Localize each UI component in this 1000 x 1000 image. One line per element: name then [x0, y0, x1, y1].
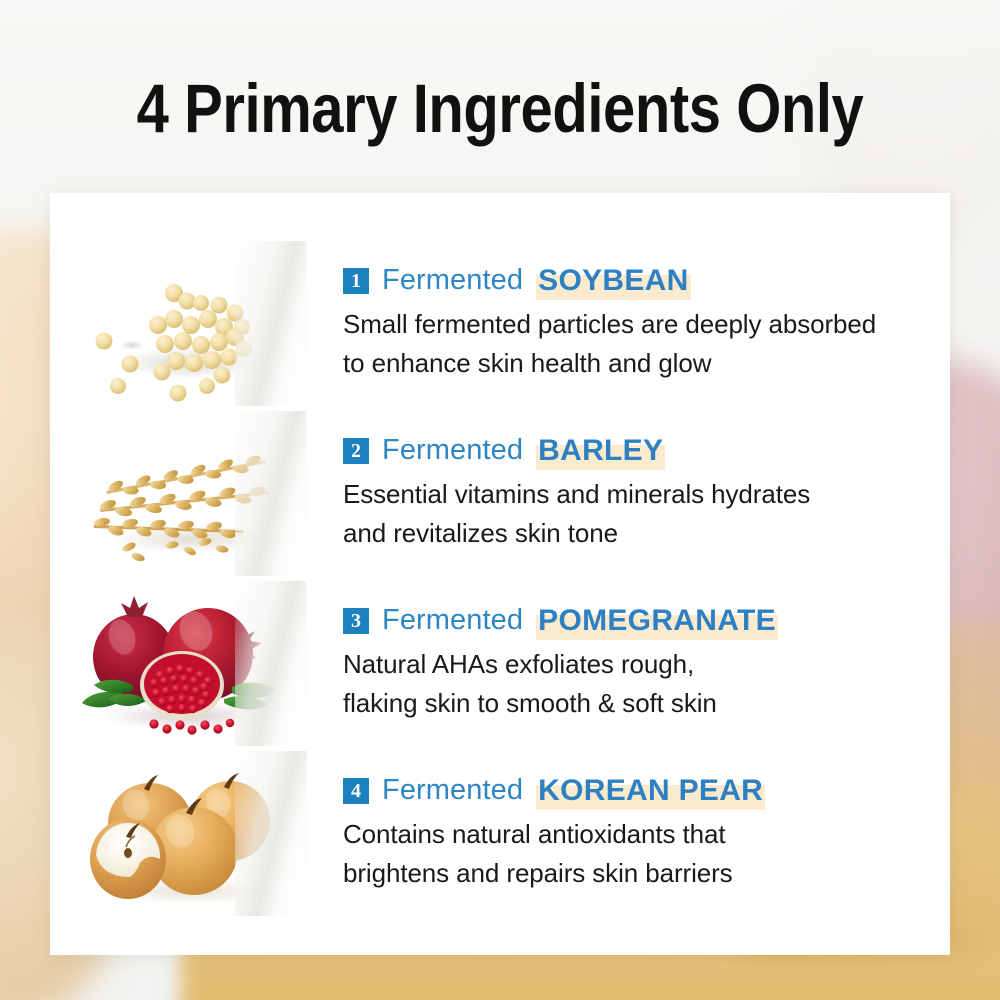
ingredient-headline: 1 Fermented SOYBEAN: [343, 264, 934, 298]
description-line-1: Essential vitamins and minerals hydrates: [343, 475, 934, 514]
barley-stalks-photo: [72, 411, 307, 576]
page-title: 4 Primary Ingredients Only: [80, 74, 920, 143]
ingredient-description: Essential vitamins and minerals hydrates…: [343, 475, 934, 553]
pomegranate-illustration: [72, 581, 307, 746]
description-line-2: brightens and repairs skin barriers: [343, 854, 934, 893]
ingredient-number-badge: 4: [343, 778, 369, 804]
ingredient-row-pomegranate: 3 Fermented POMEGRANATE Natural AHAs exf…: [50, 578, 950, 748]
ingredient-text-pomegranate: 3 Fermented POMEGRANATE Natural AHAs exf…: [343, 604, 950, 723]
ingredient-prefix: Fermented: [382, 774, 523, 807]
ingredient-prefix: Fermented: [382, 434, 523, 467]
ingredient-row-korean-pear: 4 Fermented KOREAN PEAR Contains natural…: [50, 748, 950, 918]
barley-illustration: [72, 411, 307, 576]
ingredients-card: 1 Fermented SOYBEAN Small fermented part…: [50, 193, 950, 955]
ingredient-prefix: Fermented: [382, 264, 523, 297]
ingredient-text-soybean: 1 Fermented SOYBEAN Small fermented part…: [343, 264, 950, 383]
ingredient-name: POMEGRANATE: [536, 604, 778, 638]
korean-pear-illustration: [72, 751, 307, 916]
ingredient-headline: 2 Fermented BARLEY: [343, 434, 934, 468]
ingredient-text-korean-pear: 4 Fermented KOREAN PEAR Contains natural…: [343, 774, 950, 893]
description-line-1: Contains natural antioxidants that: [343, 815, 934, 854]
soybeans-photo: [72, 241, 307, 406]
description-line-2: flaking skin to smooth & soft skin: [343, 684, 934, 723]
ingredient-number-badge: 3: [343, 608, 369, 634]
ingredient-headline: 4 Fermented KOREAN PEAR: [343, 774, 934, 808]
ingredient-row-soybean: 1 Fermented SOYBEAN Small fermented part…: [50, 238, 950, 408]
description-line-1: Natural AHAs exfoliates rough,: [343, 645, 934, 684]
ingredient-row-barley: 2 Fermented BARLEY Essential vitamins an…: [50, 408, 950, 578]
description-line-2: and revitalizes skin tone: [343, 514, 934, 553]
ingredient-number-badge: 1: [343, 268, 369, 294]
ingredient-name: KOREAN PEAR: [536, 774, 765, 808]
ingredient-description: Contains natural antioxidants that brigh…: [343, 815, 934, 893]
pomegranate-photo: [72, 581, 307, 746]
pear-cut-half: [90, 819, 166, 899]
description-line-1: Small fermented particles are deeply abs…: [343, 305, 934, 344]
ingredient-number-badge: 2: [343, 438, 369, 464]
ingredient-description: Small fermented particles are deeply abs…: [343, 305, 934, 383]
ingredient-text-barley: 2 Fermented BARLEY Essential vitamins an…: [343, 434, 950, 553]
ingredient-description: Natural AHAs exfoliates rough, flaking s…: [343, 645, 934, 723]
description-line-2: to enhance skin health and glow: [343, 344, 934, 383]
soybeans-illustration: [72, 241, 307, 406]
ingredient-headline: 3 Fermented POMEGRANATE: [343, 604, 934, 638]
ingredient-prefix: Fermented: [382, 604, 523, 637]
korean-pear-photo: [72, 751, 307, 916]
ingredient-name: SOYBEAN: [536, 264, 690, 298]
ingredient-name: BARLEY: [536, 434, 665, 468]
pomegranate-cut-half: [140, 651, 224, 719]
